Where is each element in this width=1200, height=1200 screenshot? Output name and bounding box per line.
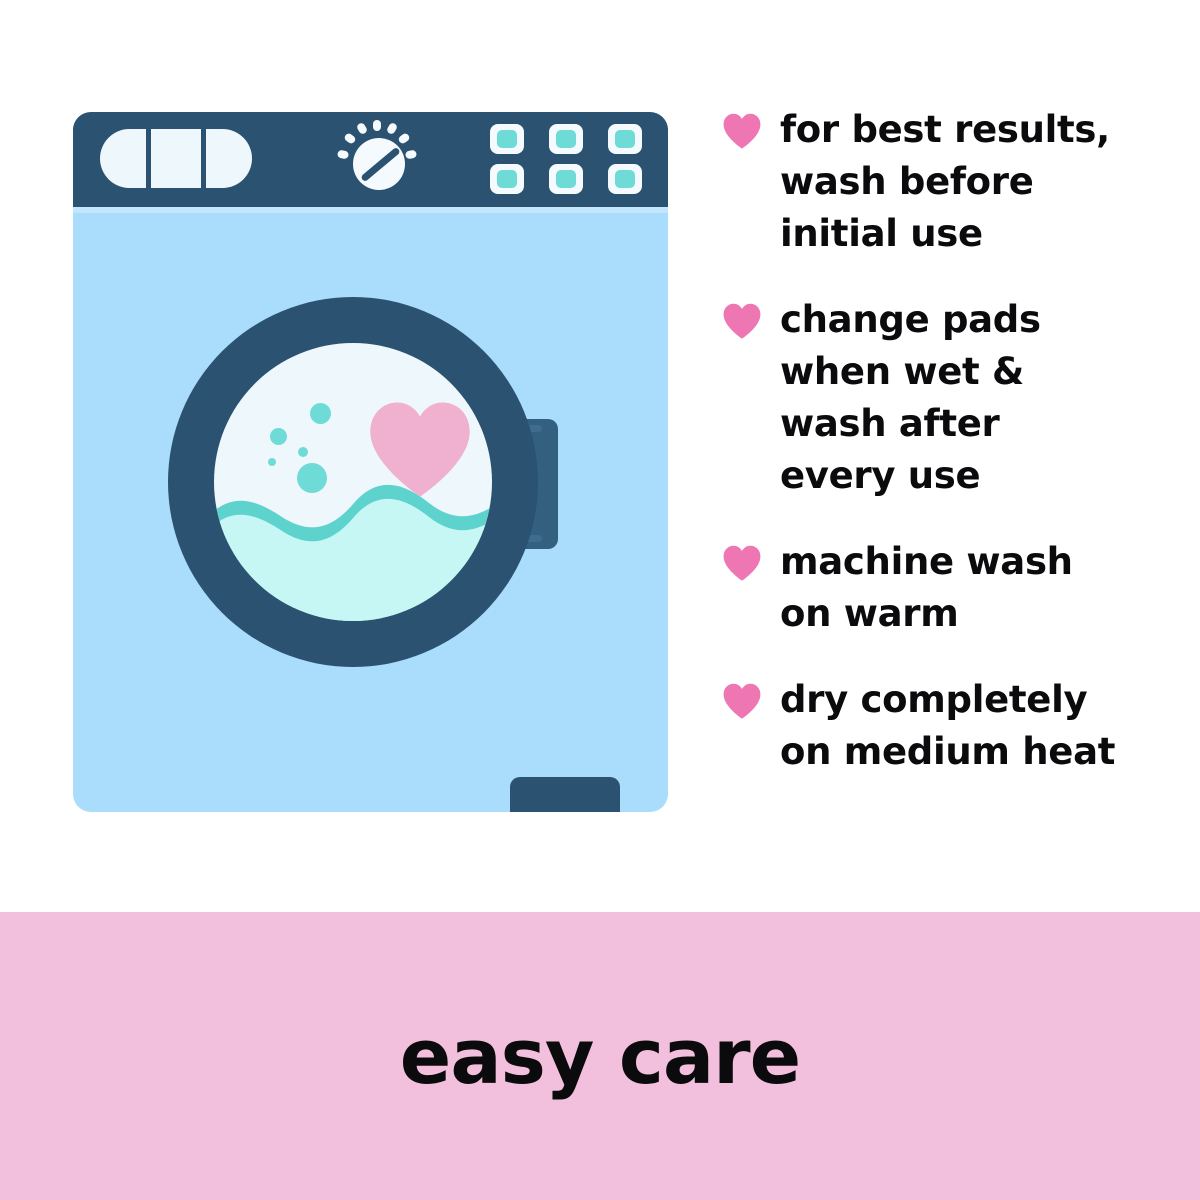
washer-panel-highlight <box>73 207 668 213</box>
heart-icon <box>366 399 474 499</box>
bubble-icon <box>270 428 287 445</box>
care-instructions-list: for best results, wash before initial us… <box>722 104 1152 812</box>
list-item-label: machine wash on warm <box>780 536 1152 640</box>
banner-title: easy care <box>400 1012 800 1101</box>
drawer-divider <box>201 129 206 188</box>
dial-tick-icon <box>397 132 411 145</box>
list-item-label: dry completely on medium heat <box>780 674 1152 778</box>
panel-button[interactable] <box>490 124 524 154</box>
list-item-label: change pads when wet & wash after every … <box>780 294 1152 502</box>
washer-button-grid <box>490 124 642 194</box>
easy-care-banner: easy care <box>0 912 1200 1200</box>
list-item: change pads when wet & wash after every … <box>722 294 1152 502</box>
heart-icon <box>722 301 762 341</box>
dial-tick-icon <box>343 132 357 145</box>
panel-button[interactable] <box>549 124 583 154</box>
bubble-icon <box>310 403 331 424</box>
panel-button-indicator <box>615 170 635 188</box>
detergent-drawer[interactable] <box>100 129 252 188</box>
bubble-icon <box>268 458 276 466</box>
dial-tick-icon <box>386 122 398 136</box>
panel-button[interactable] <box>608 164 642 194</box>
list-item: dry completely on medium heat <box>722 674 1152 778</box>
panel-button[interactable] <box>608 124 642 154</box>
dial-tick-icon <box>373 120 381 131</box>
dial-tick-icon <box>405 150 417 160</box>
bubble-icon <box>297 463 327 493</box>
washer-drum-door[interactable] <box>168 297 538 667</box>
bubble-icon <box>298 447 308 457</box>
drawer-divider <box>146 129 151 188</box>
heart-icon <box>722 543 762 583</box>
panel-button-indicator <box>556 130 576 148</box>
program-dial-knob[interactable] <box>335 120 419 200</box>
list-item: machine wash on warm <box>722 536 1152 640</box>
washing-machine-illustration <box>73 112 668 812</box>
heart-icon <box>722 111 762 151</box>
dial-tick-icon <box>337 150 349 160</box>
panel-button-indicator <box>556 170 576 188</box>
list-item: for best results, wash before initial us… <box>722 104 1152 260</box>
drum-glass-window <box>214 343 492 621</box>
panel-button-indicator <box>497 130 517 148</box>
panel-button[interactable] <box>549 164 583 194</box>
panel-button-indicator <box>497 170 517 188</box>
washer-base-drawer <box>510 777 620 812</box>
content-area: for best results, wash before initial us… <box>0 0 1200 912</box>
dial-tick-icon <box>356 122 368 136</box>
list-item-label: for best results, wash before initial us… <box>780 104 1152 260</box>
panel-button[interactable] <box>490 164 524 194</box>
heart-icon <box>722 681 762 721</box>
panel-button-indicator <box>615 130 635 148</box>
page-root: for best results, wash before initial us… <box>0 0 1200 1200</box>
